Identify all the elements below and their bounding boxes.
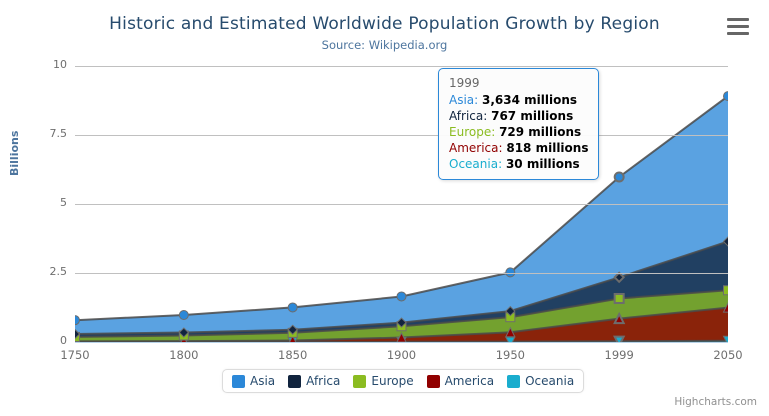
legend: AsiaAfricaEuropeAmericaOceania	[222, 369, 584, 393]
tooltip-row: America: 818 millions	[449, 140, 588, 156]
y-axis-tick-label: 10	[19, 58, 67, 71]
legend-label: Oceania	[525, 374, 574, 388]
legend-swatch-icon	[353, 375, 366, 388]
tooltip-series-name: America:	[449, 141, 506, 155]
legend-label: America	[445, 374, 495, 388]
x-axis-tick-label: 1950	[475, 348, 545, 362]
legend-swatch-icon	[288, 375, 301, 388]
menu-bar	[727, 32, 749, 35]
legend-label: Africa	[306, 374, 340, 388]
x-axis-tick-label: 1999	[584, 348, 654, 362]
tooltip-row: Europe: 729 millions	[449, 124, 588, 140]
chart-subtitle: Source: Wikipedia.org	[0, 38, 769, 52]
tooltip-series-value: 30 millions	[506, 157, 580, 171]
tooltip-series-value: 767 millions	[491, 109, 573, 123]
y-axis-tick-label: 0	[19, 334, 67, 347]
tooltip: 1999 Asia: 3,634 millionsAfrica: 767 mil…	[438, 68, 599, 180]
point-asia-1750[interactable]	[75, 316, 80, 325]
tooltip-row: Asia: 3,634 millions	[449, 92, 588, 108]
tooltip-series-value: 729 millions	[499, 125, 581, 139]
gridline	[75, 66, 728, 67]
gridline	[75, 273, 728, 274]
tooltip-rows: Asia: 3,634 millionsAfrica: 767 millions…	[449, 92, 588, 172]
menu-bar	[727, 25, 749, 28]
point-europe-2050[interactable]	[724, 286, 729, 295]
point-asia-1999[interactable]	[615, 173, 624, 182]
tooltip-series-name: Asia:	[449, 93, 482, 107]
point-asia-2050[interactable]	[724, 92, 729, 101]
legend-label: Asia	[250, 374, 275, 388]
chart-container: Historic and Estimated Worldwide Populat…	[0, 0, 769, 416]
x-axis-tick-label: 1750	[40, 348, 110, 362]
hamburger-menu-icon[interactable]	[727, 18, 749, 36]
y-axis-tick-label: 5	[19, 196, 67, 209]
x-axis-tick-label: 2050	[693, 348, 763, 362]
tooltip-series-value: 818 millions	[506, 141, 588, 155]
tooltip-header: 1999	[449, 75, 588, 91]
legend-swatch-icon	[232, 375, 245, 388]
x-axis-line	[75, 342, 728, 343]
tooltip-series-value: 3,634 millions	[482, 93, 577, 107]
legend-item-africa[interactable]: Africa	[288, 374, 340, 388]
credits-label[interactable]: Highcharts.com	[674, 396, 757, 408]
legend-item-europe[interactable]: Europe	[353, 374, 413, 388]
legend-item-america[interactable]: America	[427, 374, 495, 388]
legend-item-asia[interactable]: Asia	[232, 374, 275, 388]
tooltip-series-name: Europe:	[449, 125, 499, 139]
x-axis-tick-label: 1850	[258, 348, 328, 362]
legend-swatch-icon	[427, 375, 440, 388]
tooltip-row: Africa: 767 millions	[449, 108, 588, 124]
plot-area	[75, 66, 728, 342]
tooltip-series-name: Oceania:	[449, 157, 506, 171]
point-europe-1999[interactable]	[615, 294, 624, 303]
gridline	[75, 204, 728, 205]
point-asia-1800[interactable]	[179, 311, 188, 320]
x-axis-tick-label: 1900	[367, 348, 437, 362]
x-axis-tick-label: 1800	[149, 348, 219, 362]
legend-label: Europe	[371, 374, 413, 388]
legend-item-oceania[interactable]: Oceania	[507, 374, 574, 388]
point-asia-1900[interactable]	[397, 292, 406, 301]
chart-title: Historic and Estimated Worldwide Populat…	[0, 14, 769, 34]
legend-swatch-icon	[507, 375, 520, 388]
point-asia-1850[interactable]	[288, 303, 297, 312]
menu-bar	[727, 18, 749, 21]
tooltip-row: Oceania: 30 millions	[449, 156, 588, 172]
gridline	[75, 135, 728, 136]
y-axis-tick-label: 7.5	[19, 127, 67, 140]
y-axis-tick-label: 2.5	[19, 265, 67, 278]
tooltip-series-name: Africa:	[449, 109, 491, 123]
